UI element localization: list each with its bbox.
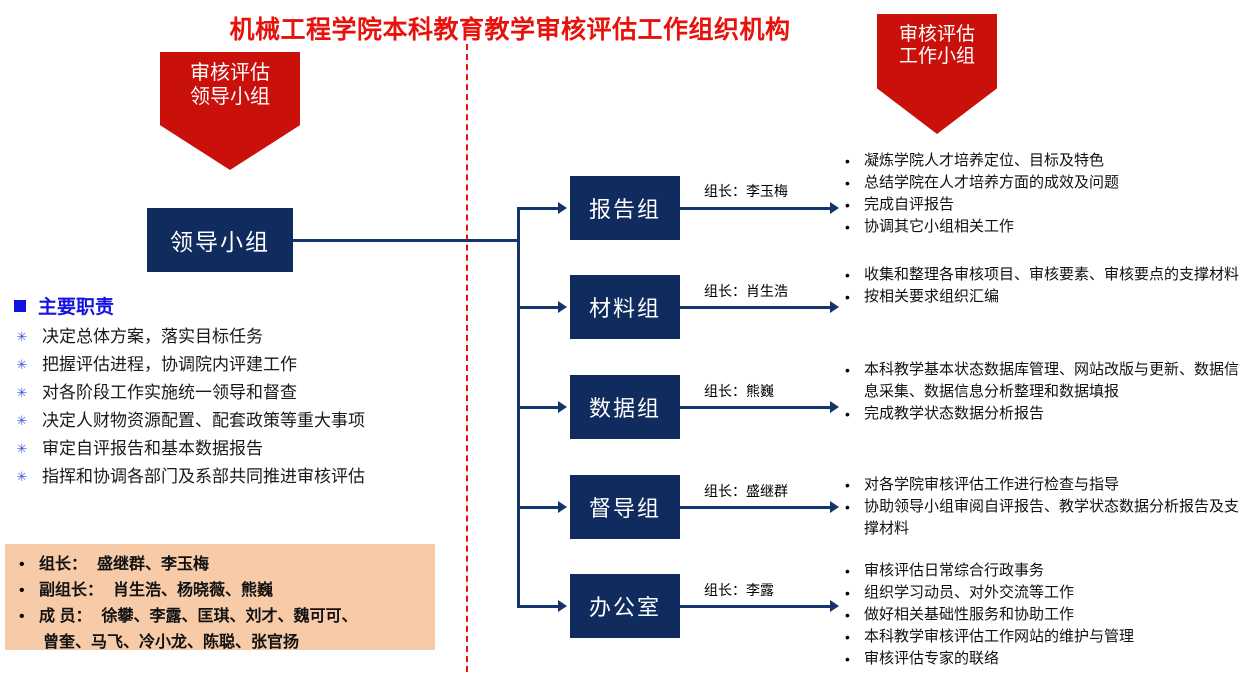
- duties-list-supervision: • 对各学院审核评估工作进行检查与指导 • 协助领导小组审阅自评报告、教学状态数…: [845, 474, 1240, 540]
- member-role-label: 副组长：: [39, 578, 103, 603]
- leader-title-report: 组长：: [704, 183, 746, 199]
- group-box-supervision[interactable]: 督导组: [570, 475, 680, 539]
- arrow-out-5: [830, 600, 839, 612]
- arrow-out-4: [830, 501, 839, 513]
- duty-list-item: • 做好相关基础性服务和协助工作: [845, 604, 1240, 626]
- arrow-out-1: [830, 202, 839, 214]
- duty-list-item: • 完成教学状态数据分析报告: [845, 403, 1240, 425]
- asterisk-bullet-icon: ✳: [16, 436, 28, 462]
- duty-list-item: • 完成自评报告: [845, 194, 1240, 216]
- leader-label-data: 组长：熊巍: [704, 381, 774, 401]
- dot-bullet-icon: •: [19, 578, 29, 603]
- dot-bullet-icon: •: [845, 648, 853, 670]
- duty-item: ✳ 指挥和协调各部门及系部共同推进审核评估: [16, 464, 454, 490]
- leader-name-data: 熊巍: [746, 383, 774, 399]
- dot-bullet-icon: •: [845, 582, 853, 604]
- leader-label-office: 组长：李露: [704, 580, 774, 600]
- banner-right-line1: 审核评估: [899, 24, 975, 46]
- duty-list-text: 对各学院审核评估工作进行检查与指导: [864, 474, 1119, 496]
- duties-list-material: • 收集和整理各审核项目、审核要素、审核要点的支撑材料 • 按相关要求组织汇编: [845, 264, 1240, 308]
- connector-out-4: [680, 506, 832, 509]
- duty-list-text: 完成自评报告: [864, 194, 954, 216]
- dot-bullet-icon: •: [845, 496, 853, 518]
- square-bullet-icon: [14, 300, 26, 312]
- dot-bullet-icon: •: [845, 403, 853, 425]
- asterisk-bullet-icon: ✳: [16, 464, 28, 490]
- arrow-into-group-3: [558, 401, 567, 413]
- duty-list-text: 收集和整理各审核项目、审核要素、审核要点的支撑材料: [864, 264, 1239, 286]
- member-names: 徐攀、李露、匡琪、刘才、魏可可、: [101, 604, 357, 629]
- group-box-data[interactable]: 数据组: [570, 375, 680, 439]
- arrow-into-group-5: [558, 600, 567, 612]
- leader-title-data: 组长：: [704, 383, 746, 399]
- arrow-into-group-1: [558, 202, 567, 214]
- duty-list-text: 组织学习动员、对外交流等工作: [864, 582, 1074, 604]
- banner-left-line2: 领导小组: [190, 86, 270, 110]
- duty-item: ✳ 对各阶段工作实施统一领导和督查: [16, 380, 454, 406]
- duty-item: ✳ 审定自评报告和基本数据报告: [16, 436, 454, 462]
- leader-name-supervision: 盛继群: [746, 483, 788, 499]
- duty-list-text: 本科教学基本状态数据库管理、网站改版与更新、数据信息采集、数据信息分析整理和数据…: [864, 359, 1240, 403]
- duties-list-data: • 本科教学基本状态数据库管理、网站改版与更新、数据信息采集、数据信息分析整理和…: [845, 359, 1240, 425]
- section-divider: [466, 44, 468, 672]
- duty-list-item: • 组织学习动员、对外交流等工作: [845, 582, 1240, 604]
- duty-text: 对各阶段工作实施统一领导和督查: [42, 380, 297, 406]
- connector-out-1: [680, 207, 832, 210]
- duty-list-text: 做好相关基础性服务和协助工作: [864, 604, 1074, 626]
- main-duties-section: 主要职责 ✳ 决定总体方案，落实目标任务 ✳ 把握评估进程，协调院内评建工作 ✳…: [14, 292, 454, 492]
- duty-item: ✳ 决定总体方案，落实目标任务: [16, 324, 454, 350]
- dot-bullet-icon: •: [845, 172, 853, 194]
- dot-bullet-icon: •: [845, 150, 853, 172]
- asterisk-bullet-icon: ✳: [16, 324, 28, 350]
- asterisk-bullet-icon: ✳: [16, 380, 28, 406]
- group-box-office[interactable]: 办公室: [570, 574, 680, 638]
- connector-branch-3: [517, 406, 561, 409]
- leader-label-material: 组长：肖生浩: [704, 281, 788, 301]
- member-role-label: 成 员：: [39, 604, 91, 629]
- duty-list-item: • 本科教学基本状态数据库管理、网站改版与更新、数据信息采集、数据信息分析整理和…: [845, 359, 1240, 403]
- group-box-material[interactable]: 材料组: [570, 275, 680, 339]
- duty-list-item: • 对各学院审核评估工作进行检查与指导: [845, 474, 1240, 496]
- duty-list-item: • 审核评估日常综合行政事务: [845, 560, 1240, 582]
- main-duties-heading: 主要职责: [14, 292, 454, 319]
- duty-item: ✳ 决定人财物资源配置、配套政策等重大事项: [16, 408, 454, 434]
- dot-bullet-icon: •: [845, 626, 853, 648]
- duty-text: 指挥和协调各部门及系部共同推进审核评估: [42, 464, 365, 490]
- dot-bullet-icon: •: [845, 474, 853, 496]
- arrow-into-group-4: [558, 501, 567, 513]
- leader-title-material: 组长：: [704, 283, 746, 299]
- connector-out-5: [680, 605, 832, 608]
- member-names-continued: 曾奎、马飞、冷小龙、陈聪、张官扬: [43, 630, 435, 655]
- leader-name-material: 肖生浩: [746, 283, 788, 299]
- duty-list-item: • 协调其它小组相关工作: [845, 216, 1240, 238]
- duty-list-item: • 审核评估专家的联络: [845, 648, 1240, 670]
- banner-leadership-group: 审核评估 领导小组: [160, 52, 300, 170]
- main-duties-heading-text: 主要职责: [38, 292, 114, 319]
- dot-bullet-icon: •: [845, 194, 853, 216]
- duties-list-report: • 凝炼学院人才培养定位、目标及特色 • 总结学院在人才培养方面的成效及问题 •…: [845, 150, 1240, 238]
- member-roster-box: • 组长： 盛继群、李玉梅 • 副组长： 肖生浩、杨晓薇、熊巍 • 成 员： 徐…: [5, 544, 435, 650]
- duty-list-item: • 本科教学审核评估工作网站的维护与管理: [845, 626, 1240, 648]
- leader-label-supervision: 组长：盛继群: [704, 481, 788, 501]
- connector-out-2: [680, 306, 832, 309]
- asterisk-bullet-icon: ✳: [16, 408, 28, 434]
- arrow-out-3: [830, 401, 839, 413]
- member-role-label: 组长：: [39, 552, 87, 577]
- dot-bullet-icon: •: [845, 264, 853, 286]
- duty-list-item: • 收集和整理各审核项目、审核要素、审核要点的支撑材料: [845, 264, 1240, 286]
- duty-list-text: 审核评估专家的联络: [864, 648, 999, 670]
- dot-bullet-icon: •: [845, 359, 853, 381]
- page-title: 机械工程学院本科教育教学审核评估工作组织机构: [170, 10, 850, 46]
- banner-working-group: 审核评估 工作小组: [877, 14, 997, 134]
- duty-list-text: 协调其它小组相关工作: [864, 216, 1014, 238]
- dot-bullet-icon: •: [19, 604, 29, 629]
- duty-list-text: 凝炼学院人才培养定位、目标及特色: [864, 150, 1104, 172]
- member-names: 盛继群、李玉梅: [97, 552, 209, 577]
- leader-title-supervision: 组长：: [704, 483, 746, 499]
- leadership-group-box[interactable]: 领导小组: [147, 208, 293, 272]
- leader-title-office: 组长：: [704, 582, 746, 598]
- duties-list-office: • 审核评估日常综合行政事务 • 组织学习动员、对外交流等工作 • 做好相关基础…: [845, 560, 1240, 670]
- leader-name-report: 李玉梅: [746, 183, 788, 199]
- duty-list-text: 按相关要求组织汇编: [864, 286, 999, 308]
- duty-list-text: 协助领导小组审阅自评报告、教学状态数据分析报告及支撑材料: [864, 496, 1240, 540]
- banner-left-line1: 审核评估: [190, 62, 270, 86]
- duty-list-item: • 协助领导小组审阅自评报告、教学状态数据分析报告及支撑材料: [845, 496, 1240, 540]
- duty-item: ✳ 把握评估进程，协调院内评建工作: [16, 352, 454, 378]
- connector-branch-2: [517, 306, 561, 309]
- connector-out-3: [680, 406, 832, 409]
- dot-bullet-icon: •: [845, 286, 853, 308]
- group-box-report[interactable]: 报告组: [570, 176, 680, 240]
- dot-bullet-icon: •: [19, 552, 29, 577]
- duty-text: 决定总体方案，落实目标任务: [42, 324, 263, 350]
- duty-list-item: • 按相关要求组织汇编: [845, 286, 1240, 308]
- duty-list-item: • 总结学院在人才培养方面的成效及问题: [845, 172, 1240, 194]
- member-row: • 副组长： 肖生浩、杨晓薇、熊巍: [19, 578, 435, 603]
- arrow-into-group-2: [558, 301, 567, 313]
- dot-bullet-icon: •: [845, 560, 853, 582]
- duty-text: 把握评估进程，协调院内评建工作: [42, 352, 297, 378]
- arrow-out-2: [830, 301, 839, 313]
- asterisk-bullet-icon: ✳: [16, 352, 28, 378]
- dot-bullet-icon: •: [845, 216, 853, 238]
- connector-branch-4: [517, 506, 561, 509]
- leader-name-office: 李露: [746, 582, 774, 598]
- member-row: • 组长： 盛继群、李玉梅: [19, 552, 435, 577]
- member-row: • 成 员： 徐攀、李露、匡琪、刘才、魏可可、: [19, 604, 435, 629]
- member-names: 肖生浩、杨晓薇、熊巍: [113, 578, 273, 603]
- duty-list-text: 审核评估日常综合行政事务: [864, 560, 1044, 582]
- leader-label-report: 组长：李玉梅: [704, 181, 788, 201]
- duty-list-text: 总结学院在人才培养方面的成效及问题: [864, 172, 1119, 194]
- connector-branch-5: [517, 605, 561, 608]
- duty-text: 审定自评报告和基本数据报告: [42, 436, 263, 462]
- duty-list-text: 本科教学审核评估工作网站的维护与管理: [864, 626, 1134, 648]
- connector-trunk-horizontal: [293, 239, 520, 242]
- dot-bullet-icon: •: [845, 604, 853, 626]
- banner-right-line2: 工作小组: [899, 46, 975, 68]
- duty-text: 决定人财物资源配置、配套政策等重大事项: [42, 408, 365, 434]
- connector-branch-1: [517, 207, 561, 210]
- duty-list-item: • 凝炼学院人才培养定位、目标及特色: [845, 150, 1240, 172]
- duty-list-text: 完成教学状态数据分析报告: [864, 403, 1044, 425]
